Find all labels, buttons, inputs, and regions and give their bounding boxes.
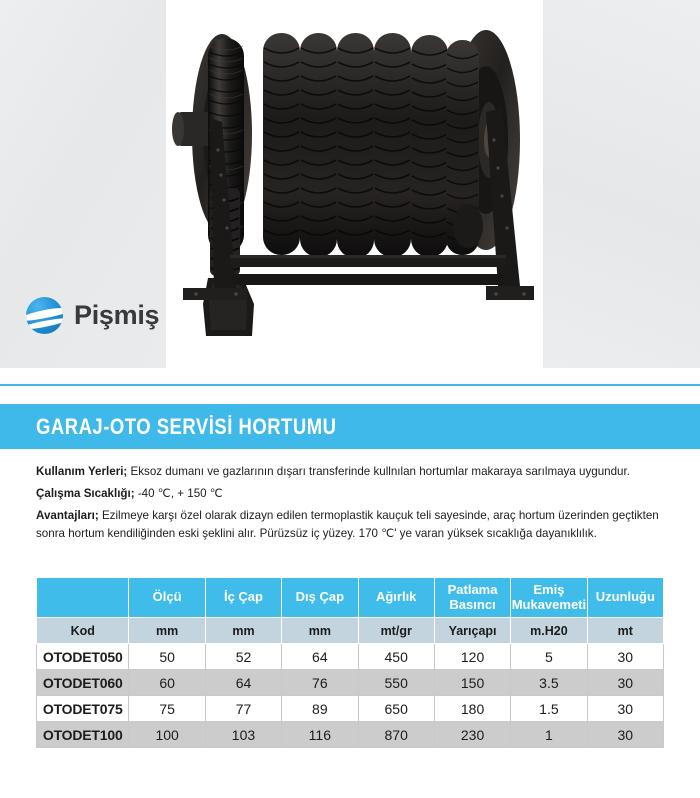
unit-agirlik: mt/gr xyxy=(358,618,434,644)
cell-code: OTODET075 xyxy=(37,696,129,722)
table-header-units-row: Kod mm mm mm mt/gr Yarıçapı m.H20 mt xyxy=(37,618,664,644)
table-row: OTODET060 60 64 76 550 150 3.5 30 xyxy=(37,670,664,696)
circle-wave-logo-icon xyxy=(26,297,63,334)
table-header-names-row: Ölçü İç Çap Dış Çap Ağırlık Patlama Bası… xyxy=(37,578,664,618)
cell-patlama: 180 xyxy=(434,696,510,722)
product-description: Kullanım Yerleri; Eksoz dumanı ve gazlar… xyxy=(36,463,666,547)
unit-dis-cap: mm xyxy=(282,618,358,644)
section-divider xyxy=(0,384,700,386)
table-head: Ölçü İç Çap Dış Çap Ağırlık Patlama Bası… xyxy=(37,578,664,644)
advantages-label: Avantajları; xyxy=(36,509,99,522)
cell-uzunluk: 30 xyxy=(587,696,663,722)
header-emis-mukavemeti: Emiş Mukavemeti xyxy=(511,578,587,618)
header-dis-cap: Dış Çap xyxy=(282,578,358,618)
cell-olcu: 50 xyxy=(129,644,205,670)
cell-code: OTODET060 xyxy=(37,670,129,696)
unit-emis: m.H20 xyxy=(511,618,587,644)
cell-patlama: 150 xyxy=(434,670,510,696)
cell-patlama: 230 xyxy=(434,722,510,748)
cell-uzunluk: 30 xyxy=(587,644,663,670)
cell-agirlik: 550 xyxy=(358,670,434,696)
product-title-banner: GARAJ-OTO SERVİSİ HORTUMU xyxy=(0,404,700,449)
cell-emis: 1 xyxy=(511,722,587,748)
cell-code: OTODET100 xyxy=(37,722,129,748)
table-row: OTODET100 100 103 116 870 230 1 30 xyxy=(37,722,664,748)
header-uzunlugu: Uzunluğu xyxy=(587,578,663,618)
cell-uzunluk: 30 xyxy=(587,722,663,748)
unit-olcu: mm xyxy=(129,618,205,644)
unit-kod: Kod xyxy=(37,618,129,644)
product-hero: Pişmiş xyxy=(0,0,700,368)
cell-dis-cap: 64 xyxy=(282,644,358,670)
cell-ic-cap: 77 xyxy=(205,696,281,722)
advantages-paragraph: Avantajları; Ezilmeye karşı özel olarak … xyxy=(36,507,666,545)
cell-agirlik: 450 xyxy=(358,644,434,670)
cell-olcu: 60 xyxy=(129,670,205,696)
cell-ic-cap: 52 xyxy=(205,644,281,670)
usage-label: Kullanım Yerleri; xyxy=(36,465,127,478)
cell-emis: 3.5 xyxy=(511,670,587,696)
specification-table: Ölçü İç Çap Dış Çap Ağırlık Patlama Bası… xyxy=(36,577,664,748)
cell-uzunluk: 30 xyxy=(587,670,663,696)
cell-agirlik: 870 xyxy=(358,722,434,748)
page-title: GARAJ-OTO SERVİSİ HORTUMU xyxy=(36,414,336,440)
cell-ic-cap: 64 xyxy=(205,670,281,696)
cell-olcu: 100 xyxy=(129,722,205,748)
header-ic-cap: İç Çap xyxy=(205,578,281,618)
cell-dis-cap: 116 xyxy=(282,722,358,748)
temperature-text: -40 ℃, + 150 ℃ xyxy=(135,487,223,500)
product-datasheet-page: Pişmiş GARAJ-OTO SERVİSİ HORTUMU Kullanı… xyxy=(0,0,700,798)
header-agirlik: Ağırlık xyxy=(358,578,434,618)
unit-patlama: Yarıçapı xyxy=(434,618,510,644)
header-patlama-basinci: Patlama Basıncı xyxy=(434,578,510,618)
temperature-paragraph: Çalışma Sıcaklığı; -40 ℃, + 150 ℃ xyxy=(36,485,666,504)
cell-olcu: 75 xyxy=(129,696,205,722)
cell-emis: 5 xyxy=(511,644,587,670)
usage-paragraph: Kullanım Yerleri; Eksoz dumanı ve gazlar… xyxy=(36,463,666,482)
cell-code: OTODET050 xyxy=(37,644,129,670)
brand-logo: Pişmiş xyxy=(26,297,159,334)
brand-name: Pişmiş xyxy=(74,302,159,329)
table-row: OTODET075 75 77 89 650 180 1.5 30 xyxy=(37,696,664,722)
cell-agirlik: 650 xyxy=(358,696,434,722)
cell-dis-cap: 89 xyxy=(282,696,358,722)
table-row: OTODET050 50 52 64 450 120 5 30 xyxy=(37,644,664,670)
cell-dis-cap: 76 xyxy=(282,670,358,696)
cell-emis: 1.5 xyxy=(511,696,587,722)
cell-ic-cap: 103 xyxy=(205,722,281,748)
temperature-label: Çalışma Sıcaklığı; xyxy=(36,487,135,500)
table-body: OTODET050 50 52 64 450 120 5 30 OTODET06… xyxy=(37,644,664,748)
header-blank xyxy=(37,578,129,618)
cell-patlama: 120 xyxy=(434,644,510,670)
advantages-text: Ezilmeye karşı özel olarak dizayn edilen… xyxy=(36,509,659,541)
usage-text: Eksoz dumanı ve gazlarının dışarı transf… xyxy=(127,465,630,478)
header-olcu: Ölçü xyxy=(129,578,205,618)
unit-uzunluk: mt xyxy=(587,618,663,644)
unit-ic-cap: mm xyxy=(205,618,281,644)
